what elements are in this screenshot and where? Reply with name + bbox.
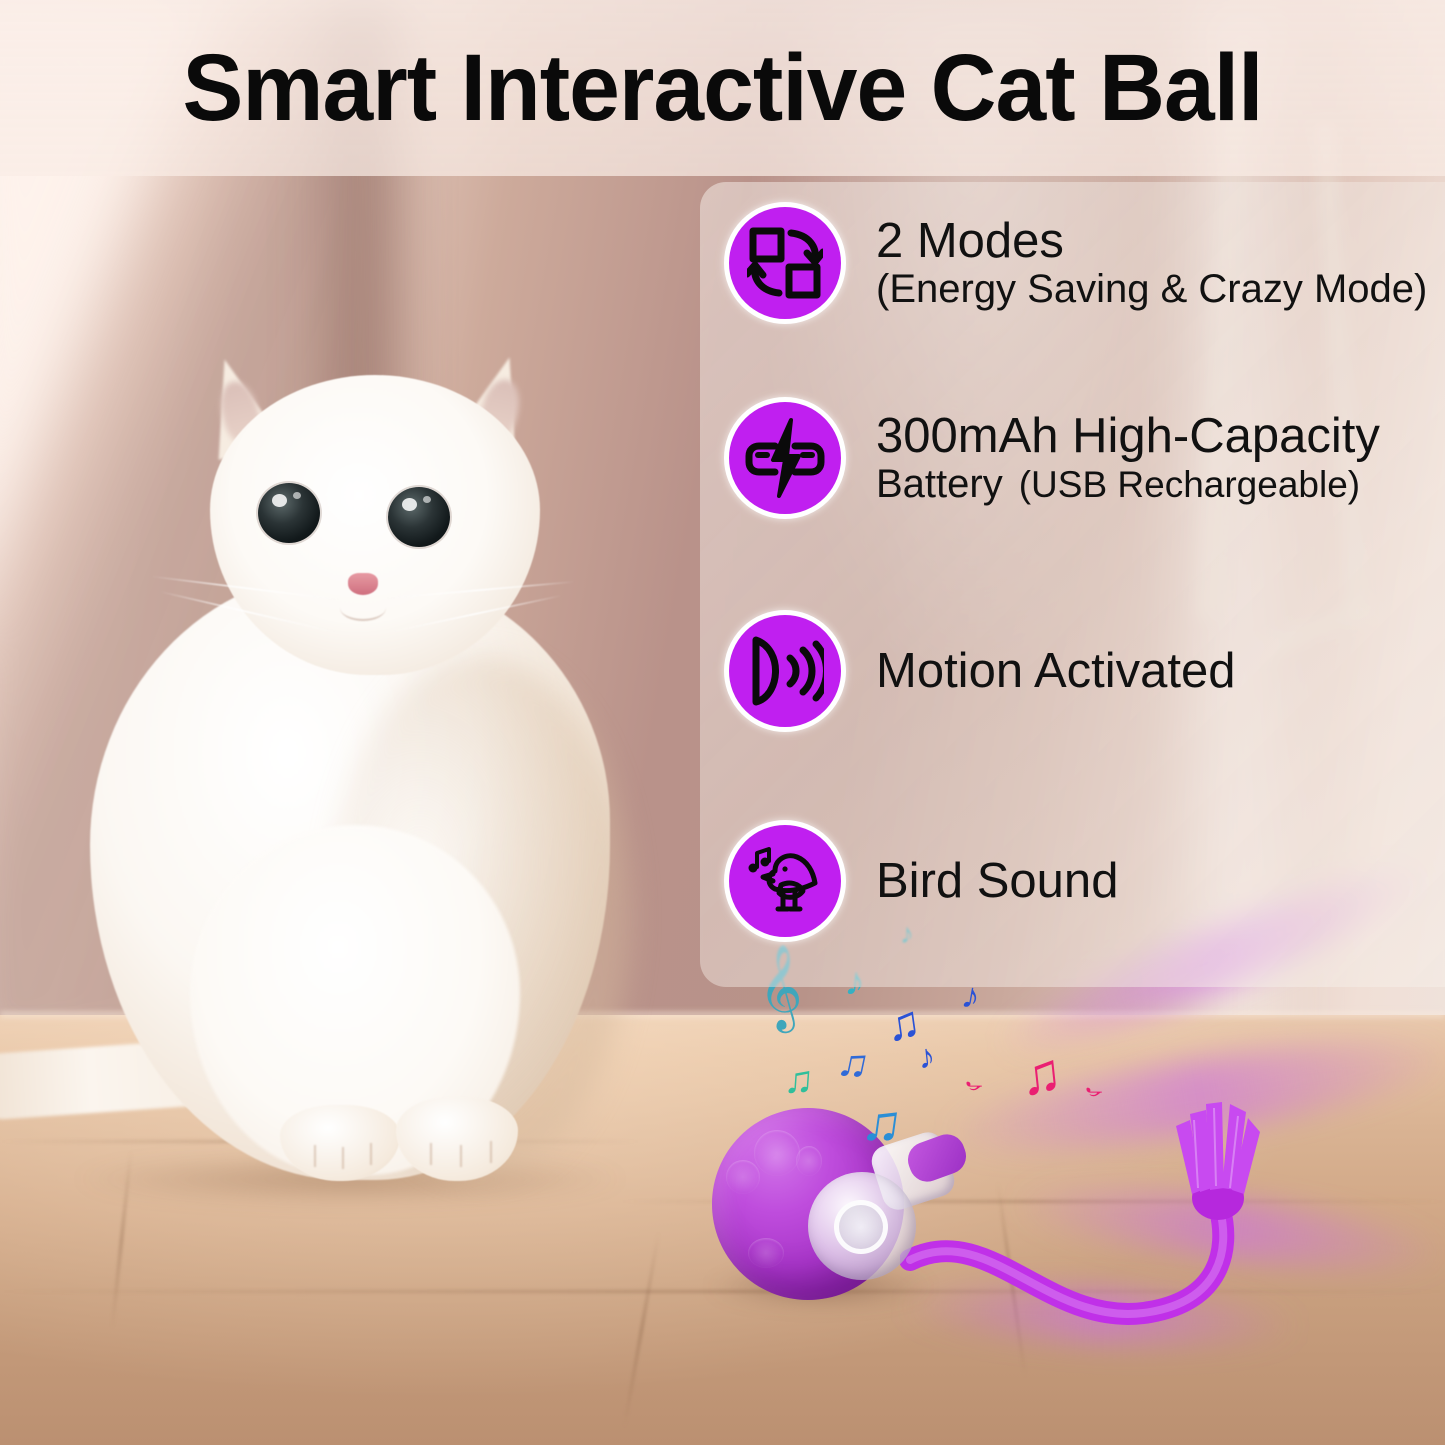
music-note: ♫ bbox=[1017, 1044, 1065, 1104]
feature-text-bird-sound: Bird Sound bbox=[876, 855, 1118, 908]
feature-item-two-modes[interactable]: 2 Modes (Energy Saving & Crazy Mode) bbox=[724, 202, 1427, 324]
white-cat bbox=[0, 355, 760, 1185]
feature-title: 300mAh High-Capacity bbox=[876, 410, 1380, 463]
feature-text-battery: 300mAh High-Capacity Battery (USB Rechar… bbox=[876, 410, 1380, 507]
ball-paw-emboss bbox=[754, 1130, 800, 1176]
feature-text-motion: Motion Activated bbox=[876, 645, 1236, 698]
feature-subtitle: Battery bbox=[876, 462, 1003, 506]
ball-paw-emboss bbox=[796, 1146, 822, 1176]
motion-sensor-icon bbox=[724, 610, 846, 732]
ball-paw-emboss bbox=[748, 1238, 784, 1268]
ball-paw-emboss bbox=[726, 1160, 760, 1194]
page-title: Smart Interactive Cat Ball bbox=[183, 41, 1263, 136]
music-note: ♪ bbox=[916, 1039, 936, 1075]
cat-eye-left bbox=[258, 483, 320, 543]
cat-nose bbox=[348, 573, 378, 595]
cat-eye-right bbox=[388, 487, 450, 547]
tassel bbox=[1176, 1102, 1260, 1194]
feature-title: 2 Modes bbox=[876, 215, 1427, 268]
two-modes-swap-icon bbox=[724, 202, 846, 324]
music-note: ♫ bbox=[858, 1093, 906, 1152]
rope-svg bbox=[900, 1080, 1445, 1340]
feature-item-battery[interactable]: 300mAh High-Capacity Battery (USB Rechar… bbox=[724, 397, 1380, 519]
title-banner: Smart Interactive Cat Ball bbox=[0, 0, 1445, 176]
music-note: ♪ bbox=[1081, 1085, 1109, 1099]
music-note: ♪ bbox=[961, 1079, 989, 1093]
purple-rope-tassel-tail bbox=[900, 1080, 1445, 1340]
music-note: ♫ bbox=[783, 1059, 816, 1101]
feature-title: Motion Activated bbox=[876, 645, 1236, 698]
feature-title: Bird Sound bbox=[876, 855, 1118, 908]
singing-bird-icon bbox=[724, 820, 846, 942]
feature-panel: 2 Modes (Energy Saving & Crazy Mode) 300… bbox=[700, 182, 1445, 987]
cat-mouth bbox=[340, 595, 386, 621]
battery-bolt-icon bbox=[724, 397, 846, 519]
feature-text-two-modes: 2 Modes (Energy Saving & Crazy Mode) bbox=[876, 215, 1427, 312]
feature-subtitle: (Energy Saving & Crazy Mode) bbox=[876, 267, 1427, 311]
feature-item-motion[interactable]: Motion Activated bbox=[724, 610, 1236, 732]
feature-item-bird-sound[interactable]: Bird Sound bbox=[724, 820, 1118, 942]
smart-interactive-cat-ball bbox=[700, 1090, 960, 1320]
feature-subtitle-note: (USB Rechargeable) bbox=[1019, 464, 1360, 506]
ball-inner-ring bbox=[834, 1200, 888, 1254]
